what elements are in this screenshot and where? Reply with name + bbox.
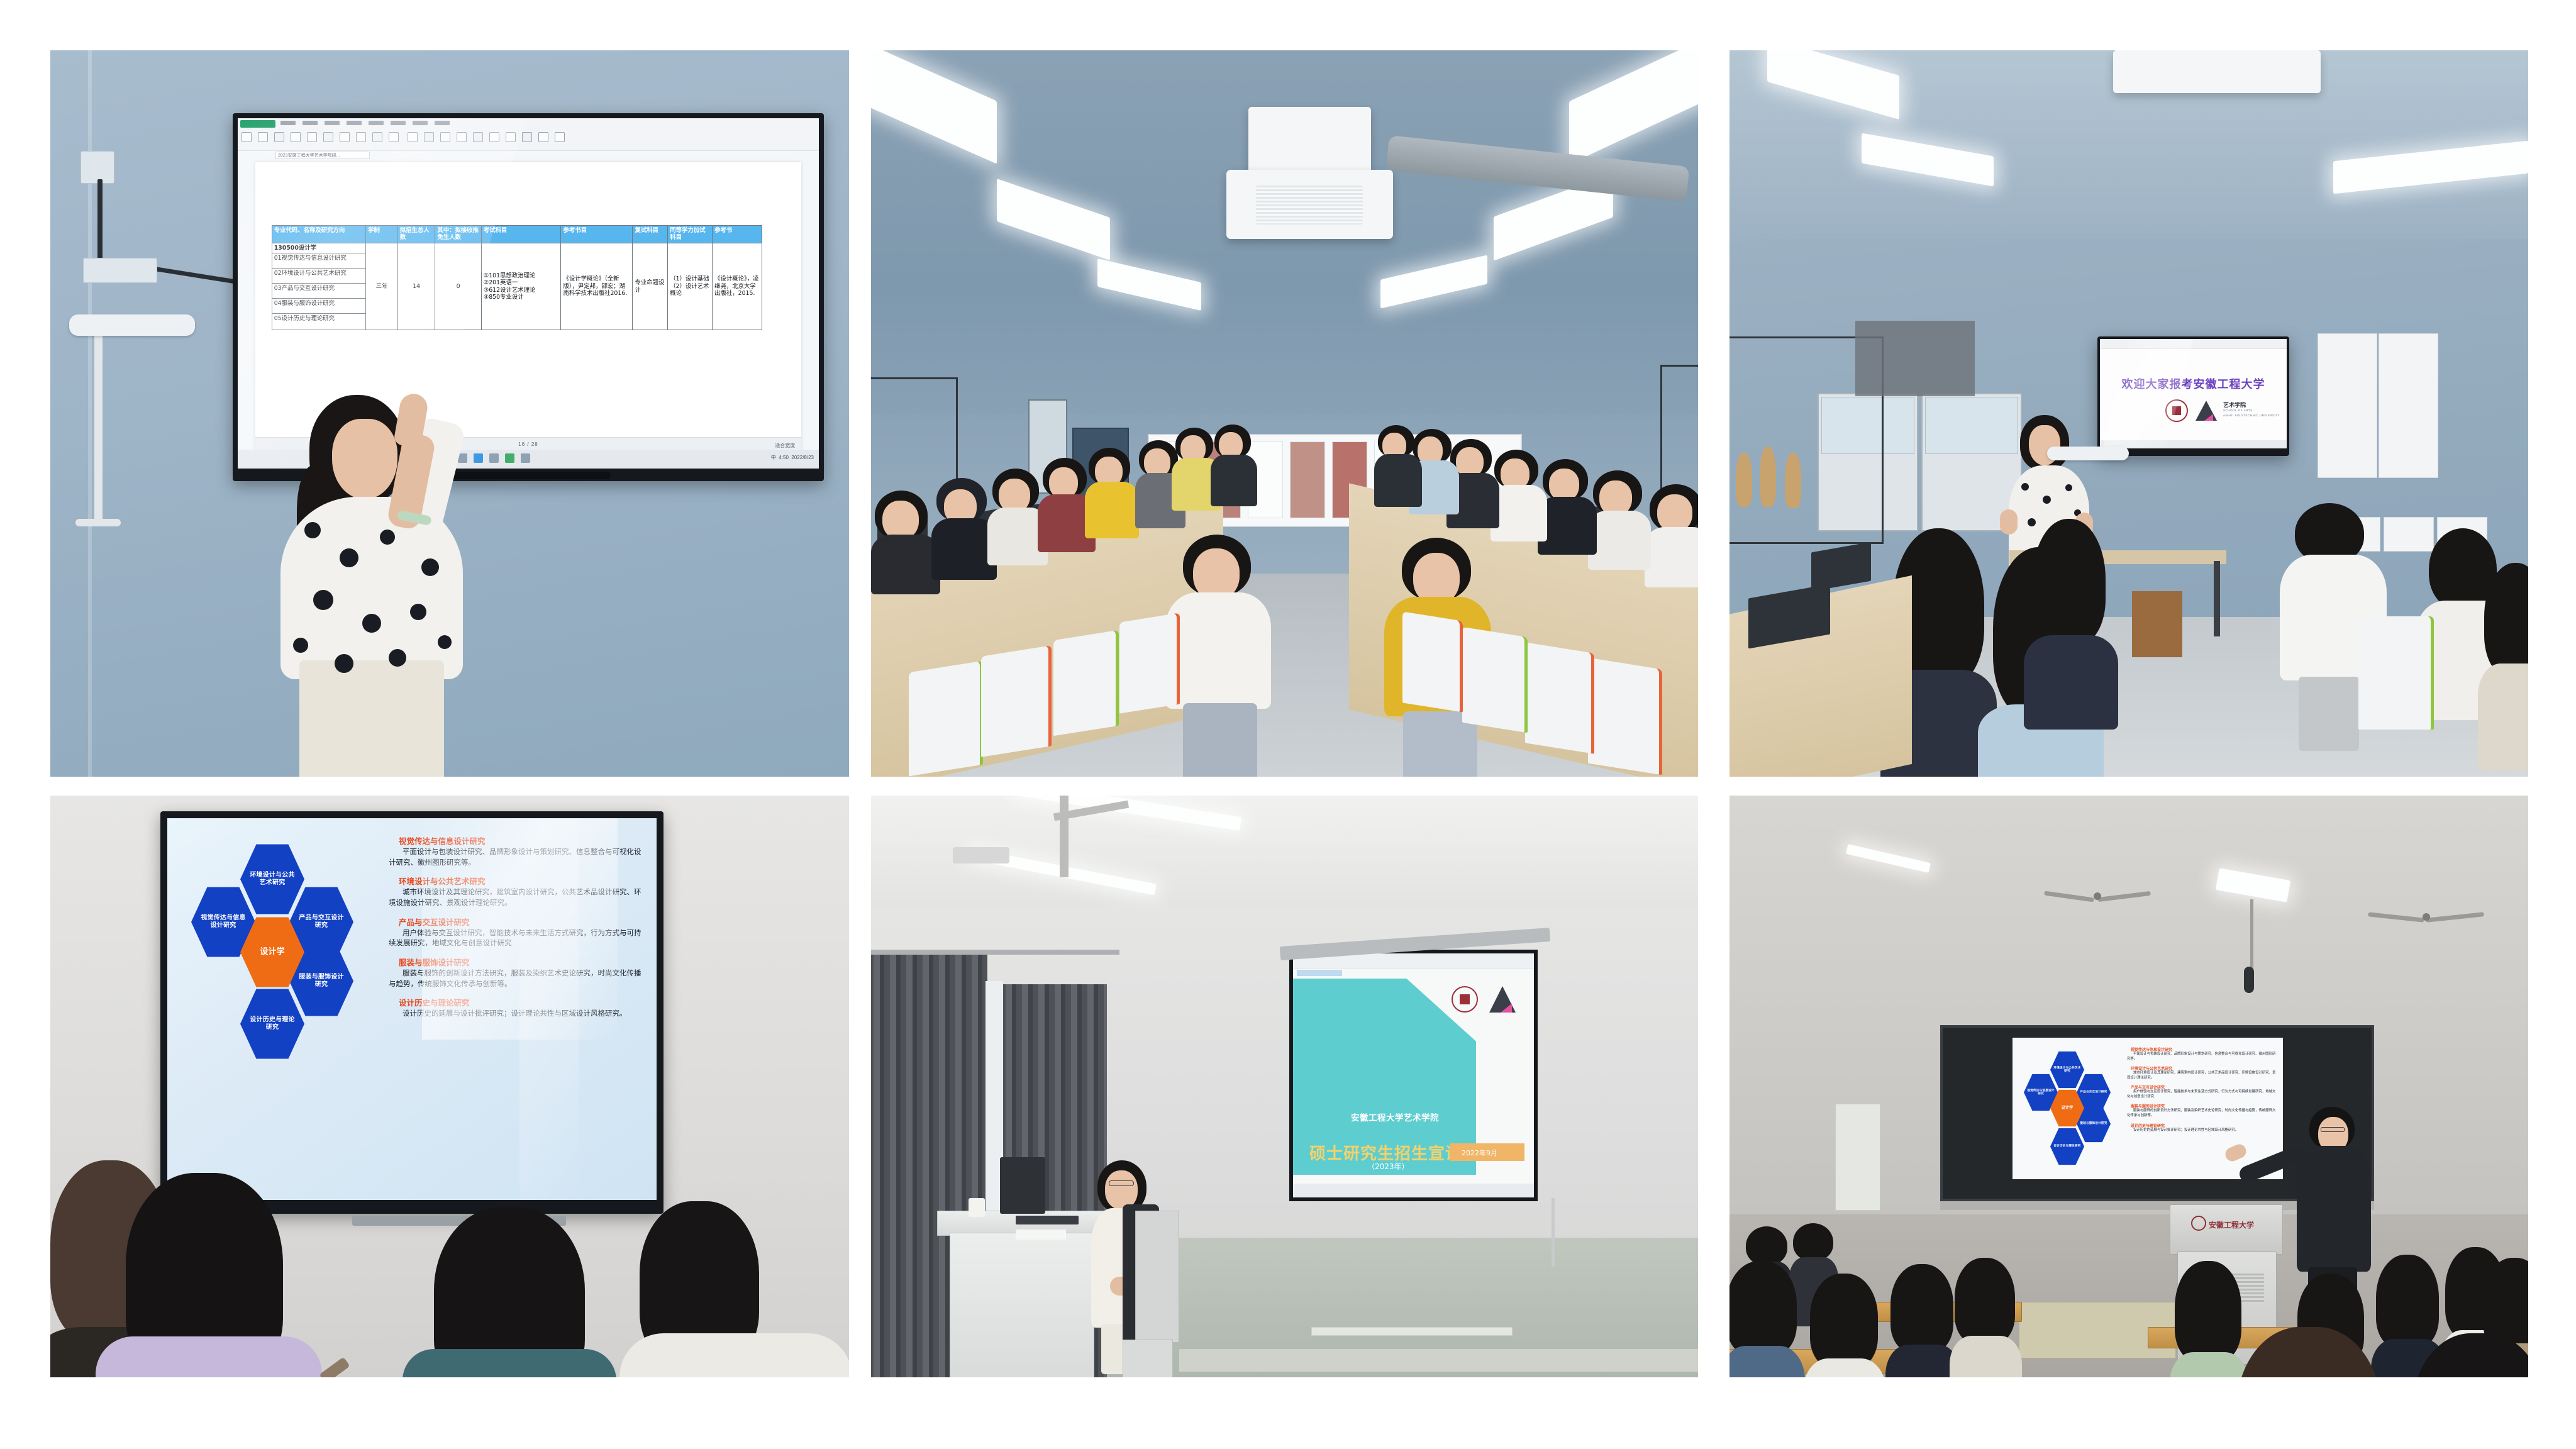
glasses-icon	[2321, 1127, 2345, 1132]
wall-acoustic-panel	[2379, 333, 2438, 478]
desk-cup	[969, 1198, 985, 1217]
wall-skirting	[1179, 1349, 1698, 1372]
wooden-mannequin	[1760, 447, 1776, 507]
polka-dot	[2065, 484, 2072, 491]
th-duration: 学制	[366, 226, 398, 243]
cell-total: 14	[397, 243, 435, 330]
photo-panel-lecture-hall-hexagon-slide: 环境设计与公共艺术研究 产品与交互设计研究 服装与服饰设计研究 设计历史与理论研…	[1729, 796, 2528, 1377]
cell-program-code: 130500设计学	[272, 243, 365, 253]
section-heading: 环境设计与公共艺术研究	[399, 875, 648, 887]
polka-dot	[2043, 496, 2051, 504]
taskbar-date: 2022/8/23	[791, 455, 814, 460]
hex-node-environment: 环境设计与公共艺术研究	[2050, 1050, 2084, 1089]
chair	[1462, 627, 1528, 733]
cell-duration: 三年	[366, 243, 398, 330]
section-body: 城市环境设计及其理论研究，建筑室内设计研究，公共艺术品设计研究、环境设施设计研究…	[389, 887, 648, 908]
monitor	[1000, 1157, 1045, 1214]
projector-screen: 安徽工程大学艺术学院 硕士研究生招生宣讲 （2023年） 2022年9月	[1293, 953, 1534, 1197]
wall-acoustic-panel	[2318, 333, 2377, 478]
student	[2402, 1333, 2528, 1377]
wall-poster	[1835, 1104, 1880, 1211]
slide-section: 服装与服饰设计研究 服装与服饰的创新设计方法研究，服装及染织艺术史论研究，时尚文…	[2127, 1103, 2278, 1118]
filing-cabinet	[1135, 1211, 1179, 1343]
slide-section: 产品与交互设计研究 用户体验与交互设计研究，智能技术与未来生活方式研究，行为方式…	[2127, 1084, 2278, 1099]
ceiling-ac-housing	[1248, 107, 1371, 179]
chair	[1402, 611, 1463, 712]
polka-dot	[2021, 483, 2029, 491]
ceiling-fan	[2044, 880, 2151, 912]
screen-pull-cord	[1552, 1198, 1555, 1267]
cell-direction: 04服装与服饰设计研究	[272, 299, 365, 314]
section-body: 设计历史的延展与设计批评研究；设计理论共性与区域设计风格研究。	[389, 1008, 648, 1019]
power-cable	[97, 179, 103, 261]
seal-inner-mark	[1460, 994, 1470, 1004]
taskbar-clock: 中 4:50 2022/8/23	[771, 454, 814, 461]
cell-direction: 01视觉传达与信息设计研究	[272, 253, 365, 269]
ceiling-fan-mount	[953, 847, 1009, 863]
polka-dot	[362, 614, 381, 633]
polka-dot	[410, 604, 426, 620]
office-desk-body	[950, 1233, 1094, 1377]
title-slide-institute: 安徽工程大学艺术学院	[1351, 1111, 1439, 1123]
th-equiv-books: 参考书	[713, 226, 762, 243]
wall-tv-frame: 环境设计与公共艺术研究 产品与交互设计研究 服装与服饰设计研究 设计历史与理论研…	[160, 811, 663, 1214]
student	[2024, 519, 2118, 726]
section-body: 服装与服饰的创新设计方法研究，服装及染织艺术史论研究，时尚文化传播与趋势，传统服…	[2127, 1109, 2278, 1118]
slide-section: 产品与交互设计研究 用户体验与交互设计研究，智能技术与未来生活方式研究，行为方式…	[389, 916, 648, 948]
admissions-table: 专业代码、名称及研究方向 学制 拟招生总人数 其中：拟接收推免生人数 考试科目 …	[272, 225, 762, 330]
polka-dot	[313, 590, 333, 610]
polka-dot	[421, 558, 439, 576]
slide-section: 视觉传达与信息设计研究 平面设计与包装设计研究、品牌形象设计与策划研究、信息整合…	[2127, 1046, 2278, 1062]
th-books: 参考书目	[561, 226, 633, 243]
photo-collage: 2023安徽工程大学艺术学院硕... 专业代码、名称及研究方向 学制 拟招生总人…	[0, 0, 2576, 1449]
student	[1374, 425, 1422, 507]
title-slide-year: （2023年）	[1367, 1161, 1409, 1172]
cell-exam-subjects: ①101思想政治理论 ②201英语一 ③612设计艺术理论 ④850专业设计	[481, 243, 561, 330]
person-presenter	[239, 390, 535, 777]
cell-equivalent: （1）设计基础 （2）设计艺术概论	[668, 243, 713, 330]
student	[2478, 563, 2528, 770]
keyboard	[1016, 1216, 1079, 1224]
section-heading: 视觉传达与信息设计研究	[2131, 1046, 2278, 1052]
face	[332, 419, 397, 499]
ac-grill	[1256, 186, 1363, 225]
pdf-logo-icon	[240, 120, 275, 128]
school-of-arts-logo-icon	[2196, 401, 2217, 421]
seal-inner-mark	[2172, 406, 2181, 415]
photo-panel-students-hexagon-slide: 环境设计与公共艺术研究 产品与交互设计研究 服装与服饰设计研究 设计历史与理论研…	[50, 796, 849, 1377]
section-body: 服装与服饰的创新设计方法研究，服装及染织艺术史论研究，时尚文化传播与趋势，传统服…	[389, 968, 648, 989]
student	[1804, 1274, 1885, 1377]
polka-dot	[335, 654, 353, 673]
cell-direction: 02环境设计与公共艺术研究	[272, 269, 365, 284]
floor-lamp-base	[75, 519, 121, 526]
th-equivalent: 同等学力加试科目	[668, 226, 713, 243]
polka-dot	[293, 638, 308, 653]
ceiling-fan	[2368, 901, 2484, 933]
th-retest: 复试科目	[633, 226, 668, 243]
student	[2226, 1327, 2396, 1377]
table-header-row: 专业代码、名称及研究方向 学制 拟招生总人数 其中：拟接收推免生人数 考试科目 …	[272, 226, 762, 243]
wooden-mannequin	[1785, 453, 1801, 508]
section-heading: 产品与交互设计研究	[399, 916, 648, 928]
polka-dot	[389, 649, 406, 667]
chair	[909, 661, 983, 777]
floor-lamp-pole	[94, 314, 103, 522]
section-body: 平面设计与包装设计研究、品牌形象设计与策划研究、信息整合与可视化设计研究、徽州图…	[389, 847, 648, 867]
white-jacket	[619, 1333, 849, 1377]
student-top	[402, 1349, 616, 1377]
pdf-menubar[interactable]	[280, 121, 469, 126]
ppt-toolbar-chip	[1297, 970, 1342, 976]
chair	[1588, 658, 1662, 775]
polka-dot	[438, 635, 452, 649]
slide-text-column: 视觉传达与信息设计研究 平面设计与包装设计研究、品牌形象设计与策划研究、信息整合…	[2127, 1046, 2278, 1133]
hex-node-history: 设计历史与理论研究	[2050, 1127, 2084, 1166]
section-heading: 环境设计与公共艺术研究	[2131, 1065, 2278, 1071]
photo-panel-computer-classroom	[871, 50, 1698, 777]
chair	[981, 645, 1052, 757]
section-body: 设计历史的延展与设计批评研究；设计理论共性与区域设计风格研究。	[2127, 1128, 2278, 1133]
hand	[2000, 509, 2018, 535]
slide-section: 服装与服饰设计研究 服装与服饰的创新设计方法研究，服装及染织艺术史论研究，时尚文…	[389, 956, 648, 989]
student	[1729, 1261, 1805, 1377]
chair	[2358, 616, 2434, 730]
section-body: 用户体验与交互设计研究，智能技术与未来生活方式研究，行为方式与可持续发展研究，地…	[389, 928, 648, 948]
slide-section: 环境设计与公共艺术研究 城市环境设计及其理论研究，建筑室内设计研究，公共艺术品设…	[2127, 1065, 2278, 1080]
slide-section: 环境设计与公共艺术研究 城市环境设计及其理论研究，建筑室内设计研究，公共艺术品设…	[389, 875, 648, 908]
screen-glare	[2100, 339, 2199, 448]
floor-lamp-head	[69, 314, 195, 336]
cell-retest: 专业命题设计	[633, 243, 668, 330]
college-name-en-2: ANHUI POLYTECHNIC UNIVERSITY	[2223, 414, 2280, 417]
polka-dot	[380, 530, 395, 545]
ppt-toolbar	[2100, 339, 2287, 349]
microphone-head	[2244, 967, 2254, 993]
pdf-document-tab[interactable]: 2023安徽工程大学艺术学院硕...	[275, 152, 370, 159]
slide-text-column: 视觉传达与信息设计研究 平面设计与包装设计研究、品牌形象设计与策划研究、信息整合…	[389, 835, 648, 1019]
wall-cable-trunk	[1311, 1327, 1513, 1336]
section-heading: 产品与交互设计研究	[2131, 1084, 2278, 1090]
section-body: 用户体验与交互设计研究，智能技术与未来生活方式研究，行为方式与可持续发展研究，地…	[2127, 1090, 2278, 1099]
slide-section: 视觉传达与信息设计研究 平面设计与包装设计研究、品牌形象设计与策划研究、信息整合…	[389, 835, 648, 867]
hex-node-environment: 环境设计与公共艺术研究	[240, 842, 304, 916]
cell-direction: 03产品与交互设计研究	[272, 284, 365, 299]
chair	[1053, 630, 1119, 736]
title-slide-date: 2022年9月	[1462, 1148, 1497, 1158]
trousers	[299, 660, 444, 777]
desk-leg	[2214, 561, 2220, 636]
th-program: 专业代码、名称及研究方向	[272, 226, 365, 243]
wall-tv-screen: 欢迎大家报考安徽工程大学 艺术学院 SCHOOL OF ARTS ANHUI P…	[2100, 339, 2287, 448]
hexagon-diagram: 环境设计与公共艺术研究 产品与交互设计研究 服装与服饰设计研究 设计历史与理论研…	[2020, 1048, 2121, 1167]
pdf-zoom-indicator[interactable]: 适合宽度	[775, 442, 795, 449]
ppt-statusbar	[2100, 440, 2287, 448]
polka-dot	[340, 548, 358, 567]
trousers	[2299, 677, 2359, 751]
projection-area: 环境设计与公共艺术研究 产品与交互设计研究 服装与服饰设计研究 设计历史与理论研…	[2012, 1038, 2283, 1179]
student	[1588, 470, 1651, 568]
photo-panel-office-title-slide: 安徽工程大学艺术学院 硕士研究生招生宣讲 （2023年） 2022年9月	[871, 796, 1698, 1377]
microphone-boom	[2250, 899, 2253, 970]
podium-seal-icon	[2191, 1216, 2206, 1231]
section-heading: 服装与服饰设计研究	[399, 956, 648, 968]
pdf-toolbar[interactable]	[238, 118, 819, 151]
student	[1085, 448, 1139, 538]
desk-papers	[1016, 1230, 1066, 1240]
jeans	[1183, 703, 1257, 777]
glasses-icon	[1109, 1180, 1134, 1186]
th-exam: 考试科目	[481, 226, 561, 243]
th-exempt: 其中：拟接收推免生人数	[435, 226, 481, 243]
cell-exempt: 0	[435, 243, 481, 330]
hexagon-diagram: 环境设计与公共艺术研究 产品与交互设计研究 服装与服饰设计研究 设计历史与理论研…	[181, 836, 376, 1062]
wooden-stool	[2132, 591, 2182, 657]
covered-frames	[1855, 321, 1975, 396]
cell-equivalent-books: 《设计概论》，凌继尧，北京大学出版社，2015.	[713, 243, 762, 330]
wall-outlet-strip	[83, 258, 157, 283]
curtain-rail	[871, 950, 1119, 955]
section-body: 平面设计与包装设计研究、品牌形象设计与策划研究、信息整合与可视化设计研究、徽州图…	[2127, 1052, 2278, 1062]
section-heading: 视觉传达与信息设计研究	[399, 835, 648, 847]
hoodie	[96, 1336, 322, 1377]
student	[1645, 484, 1698, 585]
projector-screen-frame: 安徽工程大学艺术学院 硕士研究生招生宣讲 （2023年） 2022年9月	[1289, 950, 1538, 1201]
section-heading: 设计历史与理论研究	[399, 996, 648, 1008]
polka-dot	[304, 522, 321, 538]
ppt-statusbar	[1293, 1184, 1534, 1197]
poster	[1290, 441, 1325, 518]
podium-university-label: 安徽工程大学	[2209, 1219, 2254, 1230]
wall-tv-screen: 环境设计与公共艺术研究 产品与交互设计研究 服装与服饰设计研究 设计历史与理论研…	[167, 818, 657, 1200]
section-heading: 设计历史与理论研究	[2131, 1123, 2278, 1128]
college-name-cn: 艺术学院	[2223, 401, 2246, 409]
chair	[1525, 642, 1594, 753]
ceiling-pipe	[1060, 796, 1069, 877]
table-row-program-title: 130500设计学 三年 14 0 ①101思想政治理论 ②201英语一 ③61…	[272, 243, 762, 253]
taskbar-time: 4:50	[779, 455, 789, 460]
photo-panel-studio-welcome-slide: 欢迎大家报考安徽工程大学 艺术学院 SCHOOL OF ARTS ANHUI P…	[1729, 50, 2528, 777]
slide-section: 设计历史与理论研究 设计历史的延展与设计批评研究；设计理论共性与区域设计风格研究…	[2127, 1123, 2278, 1133]
cell-reference-books: 《设计学概论》（全新版），尹定邦，邵宏；湖南科学技术出版社2016.	[561, 243, 633, 330]
section-body: 城市环境设计及其理论研究，建筑室内设计研究，公共艺术品设计研究、环境设施设计研究…	[2127, 1071, 2278, 1080]
taskbar-ime-icon: 中	[771, 455, 776, 460]
wall-tv-frame: 欢迎大家报考安徽工程大学 艺术学院 SCHOOL OF ARTS ANHUI P…	[2097, 336, 2289, 456]
welcome-slide-title: 欢迎大家报考安徽工程大学	[2100, 375, 2287, 392]
wooden-mannequin	[1736, 453, 1752, 507]
stool	[1123, 1340, 1173, 1377]
chair	[1119, 613, 1180, 713]
student	[1211, 425, 1257, 505]
th-total: 拟招生总人数	[397, 226, 435, 243]
ceiling-ac-cassette	[2113, 50, 2321, 93]
hex-node-history: 设计历史与理论研究	[240, 987, 304, 1061]
student	[871, 491, 940, 591]
student	[1950, 1258, 2022, 1377]
pdf-ribbon-icons[interactable]	[241, 132, 799, 146]
desk-lamp-head	[2047, 447, 2129, 460]
photo-panel-teacher-pdf-table: 2023安徽工程大学艺术学院硕... 专业代码、名称及研究方向 学制 拟招生总人…	[50, 50, 849, 777]
cell-direction: 05设计历史与理论研究	[272, 314, 365, 330]
wall-socket-box	[80, 151, 114, 184]
slide-section: 设计历史与理论研究 设计历史的延展与设计批评研究；设计理论共性与区域设计风格研究…	[389, 996, 648, 1019]
college-name-en-1: SCHOOL OF ARTS	[2223, 409, 2253, 412]
